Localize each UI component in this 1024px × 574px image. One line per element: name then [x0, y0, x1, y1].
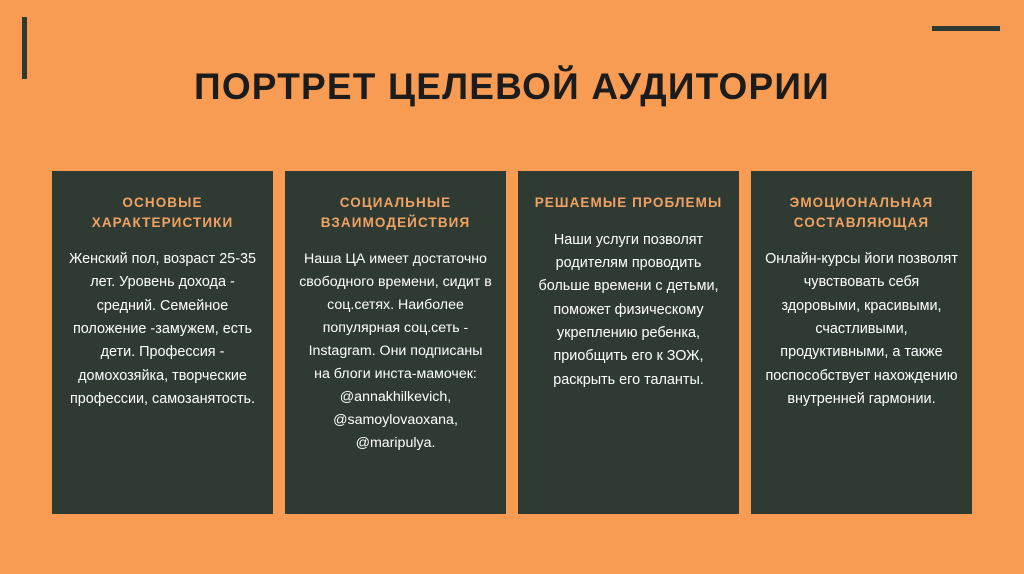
card-heading: ОСНОВЫЕ ХАРАКТЕРИСТИКИ	[66, 193, 259, 232]
columns-container: ОСНОВЫЕ ХАРАКТЕРИСТИКИ Женский пол, возр…	[52, 171, 972, 514]
card-osnovnye-harakteristiki: ОСНОВЫЕ ХАРАКТЕРИСТИКИ Женский пол, возр…	[52, 171, 273, 514]
decorative-bar-right	[932, 26, 1000, 31]
card-heading: ЭМОЦИОНАЛЬНАЯ СОСТАВЛЯЮЩАЯ	[765, 193, 958, 232]
card-socialnye-vzaimodeystviya: СОЦИАЛЬНЫЕ ВЗАИМОДЕЙСТВИЯ Наша ЦА имеет …	[285, 171, 506, 514]
card-body: Женский пол, возраст 25-35 лет. Уровень …	[66, 248, 259, 411]
card-body: Наши услуги позволят родителям проводить…	[532, 229, 725, 392]
slide: ПОРТРЕТ ЦЕЛЕВОЙ АУДИТОРИИ ОСНОВЫЕ ХАРАКТ…	[0, 0, 1024, 574]
card-heading: РЕШАЕМЫЕ ПРОБЛЕМЫ	[535, 193, 723, 213]
card-heading: СОЦИАЛЬНЫЕ ВЗАИМОДЕЙСТВИЯ	[299, 193, 492, 232]
page-title: ПОРТРЕТ ЦЕЛЕВОЙ АУДИТОРИИ	[0, 66, 1024, 108]
card-body: Наша ЦА имеет достаточно свободного врем…	[299, 248, 492, 455]
card-emocionalnaya-sostavlyayushchaya: ЭМОЦИОНАЛЬНАЯ СОСТАВЛЯЮЩАЯ Онлайн-курсы …	[751, 171, 972, 514]
card-reshaemye-problemy: РЕШАЕМЫЕ ПРОБЛЕМЫ Наши услуги позволят р…	[518, 171, 739, 514]
card-body: Онлайн-курсы йоги позволят чувствовать с…	[765, 248, 958, 411]
